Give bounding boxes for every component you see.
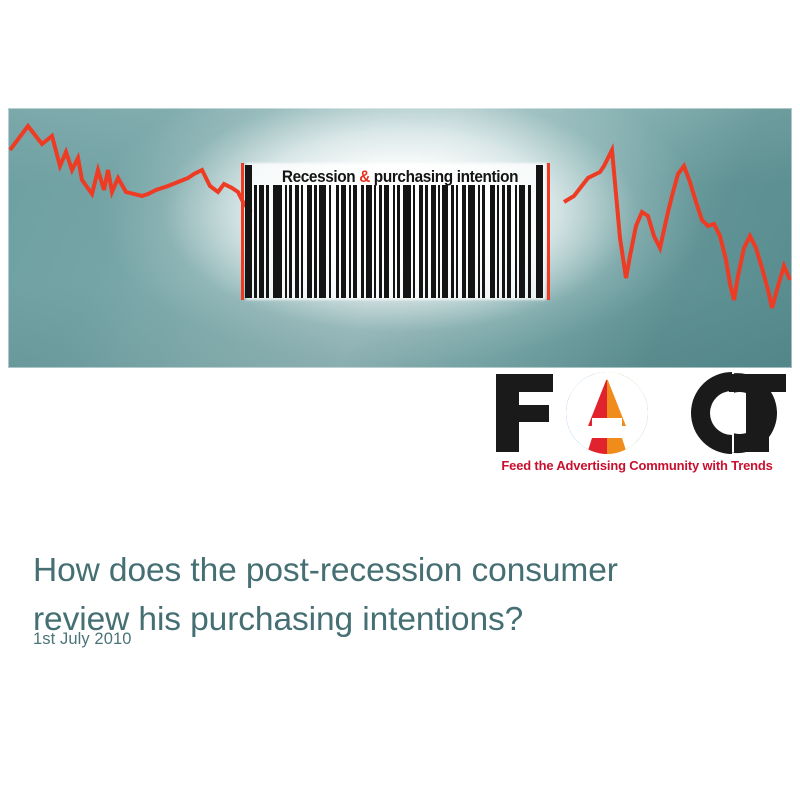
barcode-bar — [254, 185, 257, 298]
barcode-bar — [393, 185, 395, 298]
barcode-bar — [319, 185, 326, 298]
barcode-bar — [451, 185, 454, 298]
barcode-graphic: Recession & purchasing intention — [240, 163, 552, 300]
barcode-bar — [273, 185, 282, 298]
fact-logo-tagline: Feed the Advertising Community with Tren… — [492, 458, 782, 473]
barcode-sentinel-left-icon — [241, 163, 244, 300]
barcode-bar — [353, 185, 357, 298]
slide-date: 1st July 2010 — [33, 630, 132, 649]
barcode-guard-bar-left — [245, 165, 252, 298]
barcode-bar — [490, 185, 495, 298]
logo-letter-c-body — [691, 372, 732, 454]
barcode-bar — [442, 185, 448, 298]
logo-letter-f — [496, 374, 553, 452]
barcode-bar — [502, 185, 505, 298]
fact-logo-lettermark — [492, 370, 788, 456]
barcode-bar — [528, 185, 531, 298]
barcode-bar — [366, 185, 372, 298]
barcode-bar — [431, 185, 436, 298]
barcode-bar — [419, 185, 423, 298]
barcode-bars — [240, 185, 552, 298]
barcode-bar — [349, 185, 351, 298]
barcode-bar — [307, 185, 312, 298]
barcode-bar — [259, 185, 264, 298]
barcode-bar — [295, 185, 299, 298]
barcode-bar — [438, 185, 440, 298]
barcode-sentinel-right-icon — [547, 163, 550, 300]
barcode-bar — [456, 185, 458, 298]
barcode-bar — [384, 185, 389, 298]
page-title: How does the post-recession consumer rev… — [33, 546, 753, 644]
barcode-bar — [289, 185, 292, 298]
barcode-bar — [341, 185, 346, 298]
barcode-bar — [425, 185, 428, 298]
barcode-title-ampersand: & — [359, 168, 370, 186]
barcode-bar — [329, 185, 331, 298]
barcode-bar — [336, 185, 339, 298]
page-title-line-1: How does the post-recession consumer — [33, 546, 753, 595]
barcode-bar — [468, 185, 475, 298]
barcode-bar — [397, 185, 400, 298]
barcode-title: Recession & purchasing intention — [258, 165, 542, 189]
graph-line-right — [564, 150, 790, 308]
graph-line-left — [10, 126, 252, 212]
barcode-bar — [507, 185, 511, 298]
barcode-bar — [413, 185, 415, 298]
barcode-bar — [497, 185, 499, 298]
barcode-bar — [482, 185, 485, 298]
barcode-bar — [285, 185, 287, 298]
barcode-bar — [519, 185, 525, 298]
page-title-line-2: review his purchasing intentions? — [33, 595, 753, 644]
barcode-bar — [403, 185, 411, 298]
barcode-bar — [266, 185, 269, 298]
logo-a-crossbar-gap — [592, 418, 622, 426]
barcode-bar — [462, 185, 466, 298]
barcode-title-text: Recession & purchasing intention — [282, 168, 518, 187]
barcode-bar — [301, 185, 303, 298]
barcode-bar — [374, 185, 376, 298]
barcode-bar — [379, 185, 382, 298]
barcode-bar — [361, 185, 364, 298]
barcode-bar — [515, 185, 517, 298]
barcode-title-part-1: Recession — [282, 168, 359, 186]
barcode-bar — [478, 185, 480, 298]
barcode-title-part-2: purchasing intention — [370, 168, 518, 186]
barcode-bar — [314, 185, 317, 298]
fact-logo: Feed the Advertising Community with Tren… — [492, 370, 788, 480]
logo-letter-a-circle-icon — [562, 370, 652, 456]
